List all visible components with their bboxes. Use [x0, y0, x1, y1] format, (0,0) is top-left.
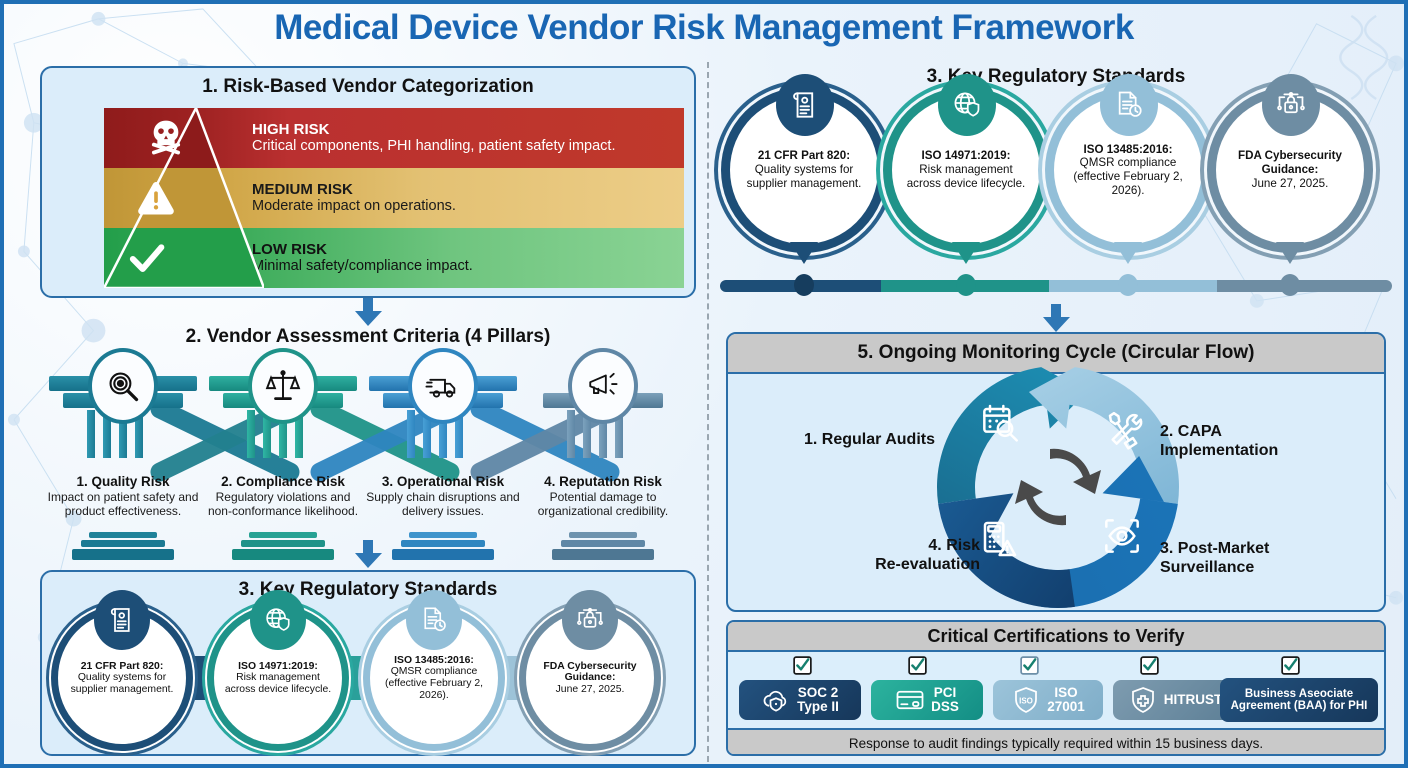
cert-badge-pci[interactable]: PCI DSS: [871, 680, 983, 720]
cert-label: Business Aseociate Agreement (BAA) for P…: [1231, 688, 1368, 712]
cloud-lock-icon: [761, 685, 791, 715]
pin-tip: [952, 242, 980, 264]
standard-desc: Risk management across device lifecycle.: [220, 672, 336, 695]
pillar-reputation-risk: 4. Reputation Risk Potential damage to o…: [526, 354, 680, 554]
standard-title: FDA Cybersecurity Guidance:: [1226, 149, 1354, 176]
pillar-desc: Impact on patient safety and product eff…: [46, 490, 200, 518]
certs-heading: Critical Certifications to Verify: [728, 622, 1384, 652]
pillars-list: 1. Quality Risk Impact on patient safety…: [40, 354, 696, 554]
standard-desc: QMSR compliance (effective February 2, 2…: [1064, 156, 1192, 197]
section-monitoring-cycle: 5. Ongoing Monitoring Cycle (Circular Fl…: [726, 332, 1386, 612]
timeline-dot: [1118, 274, 1138, 296]
risk-level-desc: Critical components, PHI handling, patie…: [252, 138, 615, 155]
pillar-base: [392, 532, 494, 562]
standard-title: ISO 14971:2019:: [238, 661, 318, 673]
standard-desc: QMSR compliance (effective February 2, 2…: [376, 666, 492, 701]
timeline-item-fda-cyber: FDA Cybersecurity Guidance: June 27, 202…: [1216, 96, 1364, 244]
document-clock-icon: [406, 590, 462, 650]
warning-triangle-icon: [134, 176, 178, 220]
calendar-search-icon: [980, 402, 1020, 442]
section-certifications: Critical Certifications to Verify SOC 2 …: [726, 620, 1386, 756]
timeline-dot: [1280, 274, 1300, 296]
megaphone-icon: [568, 348, 638, 424]
timeline-dot: [794, 274, 814, 296]
cert-label: PCI DSS: [931, 686, 959, 714]
checkbox-checked-icon[interactable]: [1020, 656, 1039, 675]
checkmark-icon: [124, 236, 170, 280]
timeline-item-cfr820: 21 CFR Part 820: Quality systems for sup…: [730, 96, 878, 244]
timeline-dot: [956, 274, 976, 296]
scroll-document-icon: [94, 590, 150, 650]
checkbox-checked-icon[interactable]: [793, 656, 812, 675]
pillar-desc: Supply chain disruptions and delivery is…: [366, 490, 520, 518]
standard-title: ISO 13485:2016:: [394, 655, 474, 667]
standard-desc: Quality systems for supplier management.: [740, 163, 868, 190]
flow-arrow-down: [1039, 304, 1073, 332]
standard-title: ISO 13485:2016:: [1084, 143, 1173, 157]
cycle-step-1-label: 1. Regular Audits: [804, 430, 935, 449]
flow-arrow-down: [351, 298, 385, 326]
pillar-label: 2. Compliance Risk: [206, 474, 360, 489]
risk-level-name: LOW RISK: [252, 242, 473, 258]
truck-icon: [408, 348, 478, 424]
target-magnifier-icon: [88, 348, 158, 424]
risk-level-desc: Minimal safety/compliance impact.: [252, 258, 473, 275]
pin-tip: [1114, 242, 1142, 264]
cert-label: HITRUST: [1164, 693, 1223, 707]
scales-icon: [248, 348, 318, 424]
column-divider: [707, 62, 709, 762]
standard-title: 21 CFR Part 820:: [758, 149, 850, 163]
standard-desc: June 27, 2025.: [1252, 177, 1329, 191]
standard-desc: Risk management across device lifecycle.: [902, 163, 1030, 190]
shield-cross-icon: [1128, 685, 1158, 715]
pillars-section-heading: 2. Vendor Assessment Criteria (4 Pillars…: [40, 326, 696, 348]
page-title: Medical Device Vendor Risk Management Fr…: [4, 8, 1404, 48]
risk-pyramid: HIGH RISK Critical components, PHI handl…: [104, 108, 684, 288]
pillar-base: [72, 532, 174, 562]
pillar-label: 3. Operational Risk: [366, 474, 520, 489]
pillar-quality-risk: 1. Quality Risk Impact on patient safety…: [46, 354, 200, 554]
section-assessment-pillars: 2. Vendor Assessment Criteria (4 Pillars…: [40, 326, 696, 558]
risk-level-name: MEDIUM RISK: [252, 182, 456, 198]
timeline-item-iso14971: ISO 14971:2019: Risk management across d…: [892, 96, 1040, 244]
cycle-step-3-label: 3. Post-Market Surveillance: [1160, 539, 1269, 577]
eye-scan-icon: [1102, 516, 1142, 556]
checkbox-checked-icon[interactable]: [1281, 656, 1300, 675]
checkbox-checked-icon[interactable]: [1140, 656, 1159, 675]
standard-desc: June 27, 2025.: [556, 684, 625, 696]
globe-shield-icon: [938, 74, 996, 136]
circuit-lock-icon: [562, 590, 618, 650]
pillar-operational-risk: 3. Operational Risk Supply chain disrupt…: [366, 354, 520, 554]
pillar-desc: Regulatory violations and non-conformanc…: [206, 490, 360, 518]
risk-section-heading: 1. Risk-Based Vendor Categorization: [42, 76, 694, 98]
svg-text:ISO: ISO: [1019, 696, 1033, 705]
section-standards-left: 3. Key Regulatory Standards 21 CFR Part …: [40, 570, 696, 756]
risk-level-desc: Moderate impact on operations.: [252, 198, 456, 215]
standard-title: ISO 14971:2019:: [922, 149, 1011, 163]
section-standards-right: 3. Key Regulatory Standards 21 CFR Part …: [720, 66, 1392, 306]
cert-badge-iso27001[interactable]: ISO ISO 27001: [993, 680, 1103, 720]
flow-arrow-down: [351, 540, 385, 568]
certs-list: SOC 2 Type II PCI DSS ISO ISO 27001: [728, 652, 1384, 728]
pillar-label: 1. Quality Risk: [46, 474, 200, 489]
pillar-desc: Potential damage to organizational credi…: [526, 490, 680, 518]
globe-shield-icon: [250, 590, 306, 650]
tools-wrench-icon: [1104, 410, 1144, 450]
calculator-warning-icon: [980, 520, 1020, 560]
pin-tip: [790, 242, 818, 264]
scroll-document-icon: [776, 74, 834, 136]
standards-chevron-flow: 21 CFR Part 820: Quality systems for sup…: [50, 610, 690, 746]
certs-footer-note: Response to audit findings typically req…: [728, 728, 1384, 756]
cert-badge-hitrust[interactable]: HITRUST: [1113, 680, 1237, 720]
risk-level-name: HIGH RISK: [252, 122, 615, 138]
section-risk-categorization: 1. Risk-Based Vendor Categorization HIGH…: [40, 66, 696, 298]
iso-shield-icon: ISO: [1011, 685, 1041, 715]
cycle-step-4-label: 4. Risk Re-evaluation: [820, 536, 980, 574]
standard-title: 21 CFR Part 820:: [81, 661, 164, 673]
pillar-compliance-risk: 2. Compliance Risk Regulatory violations…: [206, 354, 360, 554]
skull-icon: [144, 116, 188, 160]
pillar-label: 4. Reputation Risk: [526, 474, 680, 489]
timeline-item-iso13485: ISO 13485:2016: QMSR compliance (effecti…: [1054, 96, 1202, 244]
pin-tip: [1276, 242, 1304, 264]
circuit-lock-icon: [1262, 74, 1320, 136]
cert-badge-baa[interactable]: Business Aseociate Agreement (BAA) for P…: [1220, 678, 1378, 722]
cert-label: SOC 2 Type II: [797, 686, 839, 714]
standard-desc: Quality systems for supplier management.: [64, 672, 180, 695]
pillar-base: [552, 532, 654, 562]
standard-title: FDA Cybersecurity Guidance:: [532, 661, 648, 684]
checkbox-checked-icon[interactable]: [908, 656, 927, 675]
cert-label: ISO 27001: [1047, 686, 1085, 714]
document-clock-icon: [1100, 74, 1158, 136]
infographic-root: Medical Device Vendor Risk Management Fr…: [0, 0, 1408, 768]
cert-badge-soc2[interactable]: SOC 2 Type II: [739, 680, 861, 720]
credit-card-icon: [895, 685, 925, 715]
cycle-step-2-label: 2. CAPA Implementation: [1160, 422, 1278, 460]
pillar-base: [232, 532, 334, 562]
